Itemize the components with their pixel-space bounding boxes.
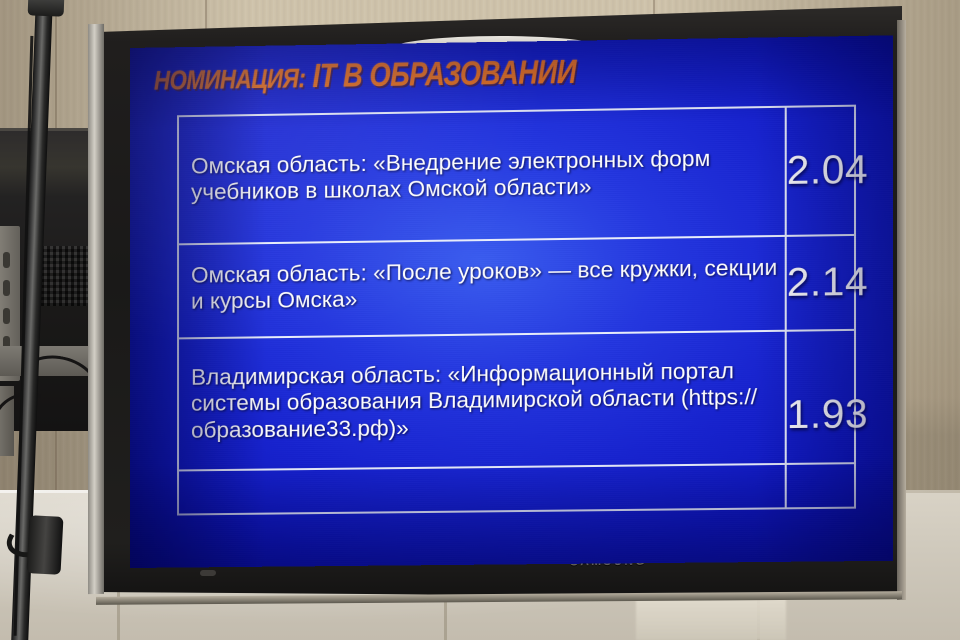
stand-pole-cap [28,0,65,17]
tv-screen: НОМИНАЦИЯ: IT В ОБРАЗОВАНИИ Омская облас… [130,35,893,568]
television: SAMSUNG НОМИНАЦИЯ: IT В ОБРАЗОВАНИИ Омск… [72,6,902,616]
ir-sensor [200,570,216,576]
tv-bottom-edge [96,591,902,605]
stand-clamp [27,515,64,575]
tv-left-edge [88,24,104,594]
room-scene: 2015 . . . SAMSUNG [0,0,960,640]
screen-glare [130,35,548,360]
tv-right-edge [897,20,906,600]
